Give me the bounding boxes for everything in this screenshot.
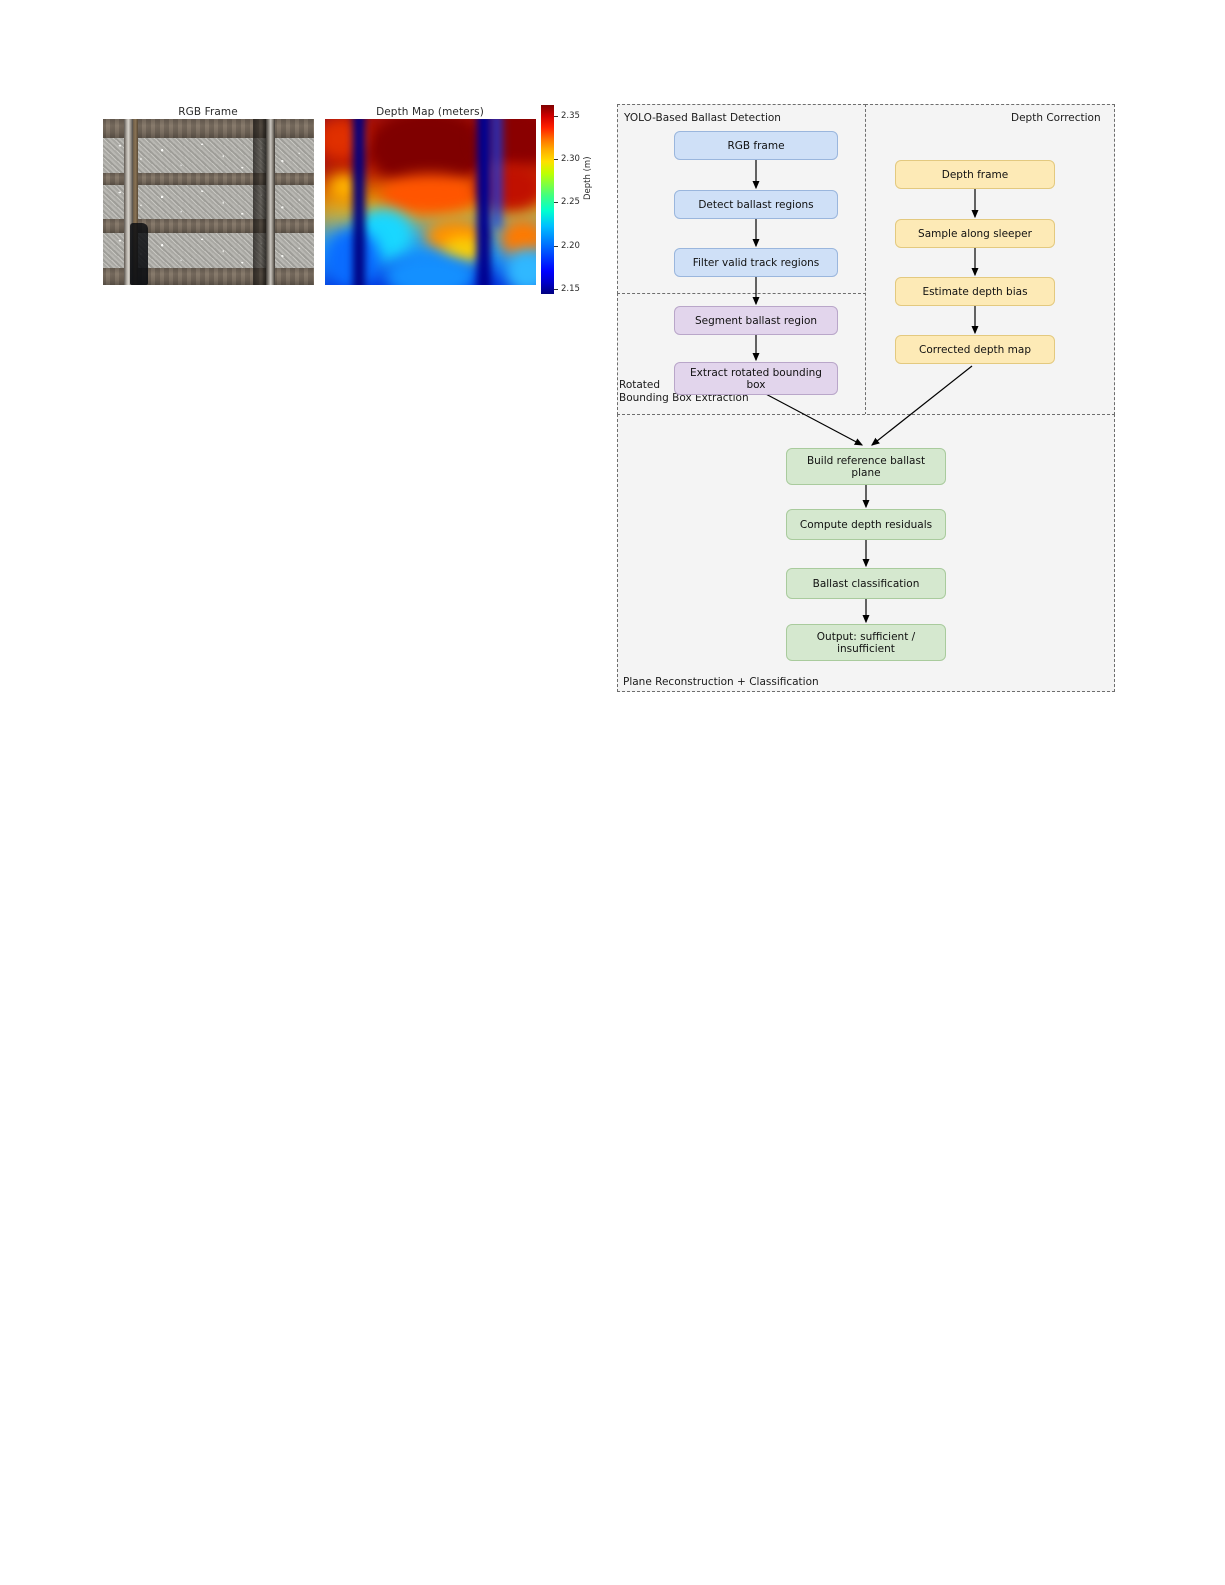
colorbar-tick-label-4: 2.15 (561, 284, 580, 294)
colorbar-tick-label-2: 2.25 (561, 197, 580, 207)
node-segment-ballast-region[interactable]: Segment ballast region (674, 306, 838, 335)
depth-map-image (325, 119, 536, 285)
rgb-dark-patch (130, 223, 148, 285)
node-extract-rotated-bounding-box[interactable]: Extract rotated bounding box (674, 362, 838, 395)
colorbar-tick (554, 289, 558, 290)
colorbar-tick (554, 159, 558, 160)
rgb-frame-title: RGB Frame (103, 106, 313, 118)
node-output-sufficient-insufficient[interactable]: Output: sufficient / insufficient (786, 624, 946, 661)
rgb-frame-image (103, 119, 314, 285)
panel-depth-correction (865, 104, 1115, 415)
node-detect-ballast-regions[interactable]: Detect ballast regions (674, 190, 838, 219)
colorbar-tick (554, 116, 558, 117)
rail-right (266, 119, 275, 285)
node-rgb-frame[interactable]: RGB frame (674, 131, 838, 160)
colorbar-tick-label-1: 2.30 (561, 154, 580, 164)
figure-images-panel: RGB Frame Depth Map (meters) (0, 0, 620, 320)
colorbar-tick-label-3: 2.20 (561, 241, 580, 251)
depth-colorbar (541, 105, 554, 294)
colorbar-tick (554, 202, 558, 203)
node-corrected-depth-map[interactable]: Corrected depth map (895, 335, 1055, 364)
node-ballast-classification[interactable]: Ballast classification (786, 568, 946, 599)
colorbar-tick-label-0: 2.35 (561, 111, 580, 121)
node-filter-valid-track-regions[interactable]: Filter valid track regions (674, 248, 838, 277)
colorbar-axis-label: Depth (m) (583, 156, 593, 200)
node-compute-depth-residuals[interactable]: Compute depth residuals (786, 509, 946, 540)
depth-map-title: Depth Map (meters) (325, 106, 535, 118)
node-depth-frame[interactable]: Depth frame (895, 160, 1055, 189)
rail-shadow-right (253, 119, 266, 285)
node-sample-along-sleeper[interactable]: Sample along sleeper (895, 219, 1055, 248)
colorbar-tick (554, 246, 558, 247)
node-build-reference-ballast-plane[interactable]: Build reference ballast plane (786, 448, 946, 485)
node-estimate-depth-bias[interactable]: Estimate depth bias (895, 277, 1055, 306)
